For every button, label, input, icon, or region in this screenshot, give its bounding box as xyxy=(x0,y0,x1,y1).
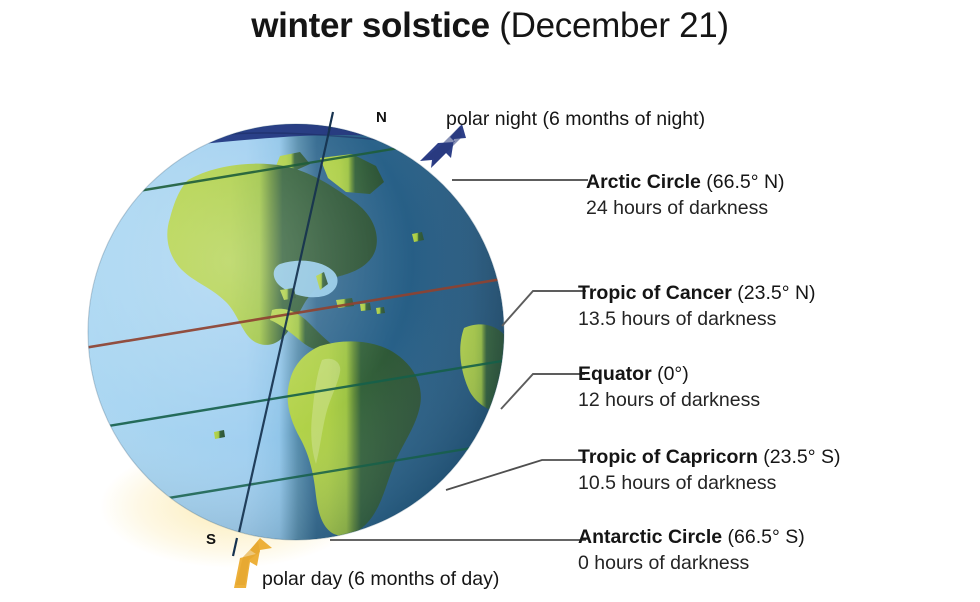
callout-tropic-of-capricorn-name: Tropic of Capricorn xyxy=(578,446,758,468)
polar-night-caption: polar night (6 months of night) xyxy=(446,106,705,132)
callout-arctic-circle-latitude: (66.5° N) xyxy=(701,171,785,193)
callout-arctic-circle-heading: Arctic Circle (66.5° N) xyxy=(586,170,785,195)
page-title: winter solstice (December 21) xyxy=(0,4,980,48)
leader-line-arctic-circle xyxy=(452,176,588,184)
south-pole-label: S xyxy=(206,531,216,548)
callout-tropic-of-capricorn: Tropic of Capricorn (23.5° S) 10.5 hours… xyxy=(578,445,840,496)
diagram-canvas: winter solstice (December 21) xyxy=(0,0,980,602)
callout-equator-detail: 12 hours of darkness xyxy=(578,387,760,413)
callout-equator: Equator (0°) 12 hours of darkness xyxy=(578,362,760,413)
callout-antarctic-circle-heading: Antarctic Circle (66.5° S) xyxy=(578,525,805,550)
callout-antarctic-circle-detail: 0 hours of darkness xyxy=(578,550,805,576)
callout-arctic-circle-name: Arctic Circle xyxy=(586,171,701,193)
callout-tropic-of-capricorn-heading: Tropic of Capricorn (23.5° S) xyxy=(578,445,840,470)
callout-tropic-of-cancer-name: Tropic of Cancer xyxy=(578,282,732,304)
callout-tropic-of-cancer: Tropic of Cancer (23.5° N) 13.5 hours of… xyxy=(578,281,816,332)
leader-line-equator xyxy=(499,363,585,411)
callout-tropic-of-cancer-heading: Tropic of Cancer (23.5° N) xyxy=(578,281,816,306)
callout-equator-name: Equator xyxy=(578,363,652,385)
callout-tropic-of-cancer-latitude: (23.5° N) xyxy=(732,282,816,304)
leader-line-antarctic-circle xyxy=(330,536,586,544)
north-pole-label: N xyxy=(376,109,387,126)
leader-line-tropic-of-capricorn xyxy=(444,446,586,494)
callout-antarctic-circle-latitude: (66.5° S) xyxy=(722,526,805,548)
leader-line-tropic-of-cancer xyxy=(500,282,586,328)
callout-tropic-of-capricorn-latitude: (23.5° S) xyxy=(758,446,841,468)
polar-day-caption: polar day (6 months of day) xyxy=(262,566,499,592)
callout-equator-heading: Equator (0°) xyxy=(578,362,760,387)
page-title-date: (December 21) xyxy=(490,6,729,45)
callout-equator-latitude: (0°) xyxy=(652,363,689,385)
callout-arctic-circle: Arctic Circle (66.5° N) 24 hours of dark… xyxy=(586,170,785,221)
callout-antarctic-circle: Antarctic Circle (66.5° S) 0 hours of da… xyxy=(578,525,805,576)
callout-tropic-of-capricorn-detail: 10.5 hours of darkness xyxy=(578,470,840,496)
callout-tropic-of-cancer-detail: 13.5 hours of darkness xyxy=(578,306,816,332)
callout-arctic-circle-detail: 24 hours of darkness xyxy=(586,195,785,221)
callout-antarctic-circle-name: Antarctic Circle xyxy=(578,526,722,548)
page-title-bold: winter solstice xyxy=(251,6,490,45)
